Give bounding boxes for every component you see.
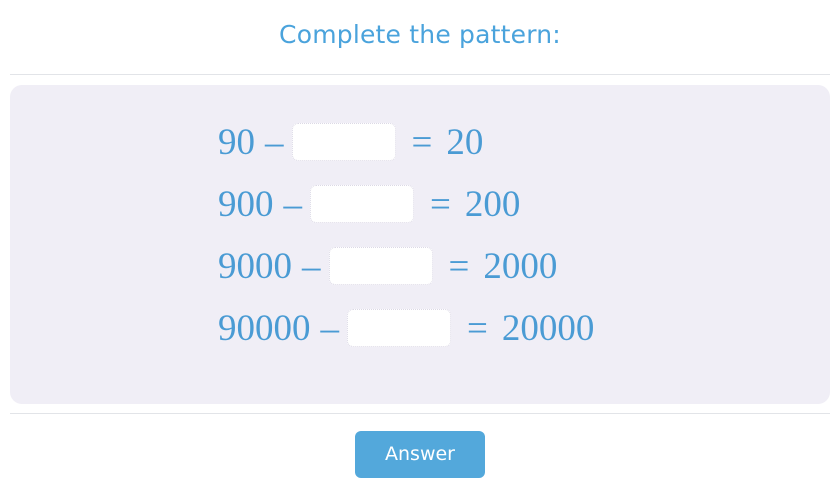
equals-operator-icon: =: [467, 310, 488, 347]
equation-result: 200: [465, 186, 521, 223]
equals-operator-icon: =: [449, 248, 470, 285]
equals-operator-icon: =: [430, 186, 451, 223]
equation-left-operand: 90000: [218, 310, 311, 347]
equation-left-operand: 900: [218, 186, 274, 223]
equals-operator-icon: =: [412, 124, 433, 161]
minus-operator-icon: –: [265, 124, 284, 161]
answer-input[interactable]: [292, 123, 396, 161]
title-bar: Complete the pattern:: [0, 0, 840, 68]
panel-wrapper: 90 – = 20 900 – = 200 9000 –: [0, 75, 840, 404]
equation-list: 90 – = 20 900 – = 200 9000 –: [218, 111, 594, 359]
equation-row: 90000 – = 20000: [218, 297, 594, 359]
equation-result: 20000: [502, 310, 595, 347]
exercise-panel: 90 – = 20 900 – = 200 9000 –: [10, 85, 830, 404]
equation-row: 9000 – = 2000: [218, 235, 594, 297]
answer-button[interactable]: Answer: [355, 431, 485, 478]
equation-result: 20: [446, 124, 483, 161]
equation-result: 2000: [483, 248, 557, 285]
equation-left-operand: 9000: [218, 248, 292, 285]
page-title: Complete the pattern:: [279, 22, 561, 47]
answer-input[interactable]: [347, 309, 451, 347]
equation-row: 900 – = 200: [218, 173, 594, 235]
minus-operator-icon: –: [321, 310, 340, 347]
minus-operator-icon: –: [302, 248, 321, 285]
minus-operator-icon: –: [284, 186, 303, 223]
footer: Answer: [0, 414, 840, 478]
answer-input[interactable]: [310, 185, 414, 223]
answer-input[interactable]: [329, 247, 433, 285]
pattern-exercise-page: Complete the pattern: 90 – = 20 900 – = …: [0, 0, 840, 501]
equation-left-operand: 90: [218, 124, 255, 161]
equation-row: 90 – = 20: [218, 111, 594, 173]
